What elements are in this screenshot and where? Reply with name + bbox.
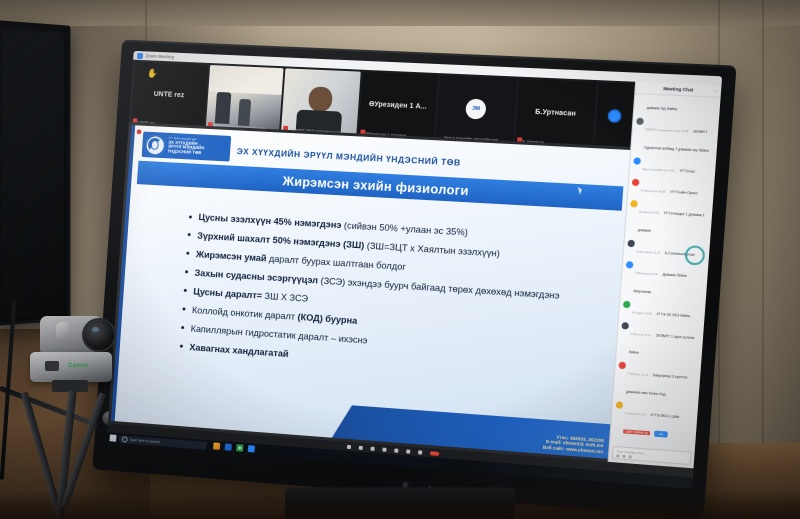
- chat-message-meta: Ж.Мөнхцэцэг 10:55: [641, 189, 666, 193]
- bullet-bold: Хавагнах хандлагатай: [189, 341, 289, 359]
- slide-org-header: ЭХ ХҮҮХДИЙН ЭРҮҮЛ МЭНДИЙН ҮНДЭСНИЙ ТӨВ: [237, 146, 462, 168]
- slide-title: Жирэмсэн эхийн физиологи: [282, 173, 469, 198]
- bullet-light: Коллойд онкотик даралт: [192, 304, 298, 322]
- mute-icon[interactable]: [347, 444, 351, 448]
- chat-input-tools[interactable]: [616, 454, 632, 458]
- chat-avatar: [618, 362, 626, 370]
- record-icon[interactable]: [406, 449, 410, 453]
- chat-message: ЭХЭМҮТ-д сургалтын хэсэг 10:48 ЭХЭМҮТ Су…: [634, 117, 716, 158]
- chat-avatar: [630, 200, 638, 208]
- wall-seam: [762, 0, 764, 519]
- participant-tile[interactable]: ЭМ Эхүүд мэндийн хөгжлийн төв: [436, 75, 517, 143]
- screen-share-area: ХҮҮ Эрүүл мэндийн яам ЭХ ХҮҮХДИЙН ЭРҮҮЛ …: [108, 122, 632, 462]
- chat-message-meta: М.Ундрах 11:09: [632, 311, 652, 315]
- chat-message: Н.Энхтуул 11:14 ЭХЭМҮТ 1 одоо хүлээж бай…: [619, 321, 700, 363]
- reactions-icon[interactable]: [418, 450, 422, 454]
- share-screen-icon[interactable]: [394, 448, 398, 452]
- chat-avatar: [627, 240, 635, 248]
- video-background: [208, 65, 284, 95]
- avatar: [607, 109, 621, 123]
- bullet-bold: Цусны эзэлхүүн 45% нэмэгдэнэ: [198, 211, 342, 230]
- bullet-bold: (КОД) буурна: [297, 311, 357, 326]
- slide-title-bar: Жирэмсэн эхийн физиологи: [137, 161, 624, 211]
- chat-message-text: УГТЭ-ээс: [679, 169, 695, 174]
- chat-message-text: ЭХЭМҮТ Сургалтын албанд 7 дэмжиж лүү бай…: [644, 129, 709, 152]
- chat-message-text: дэмжиж лүү байна: [647, 106, 678, 111]
- bullet-bold: Цусны даралт=: [193, 285, 262, 300]
- zoom-window-title: Zoom Meeting: [146, 53, 175, 59]
- leave-meeting-button[interactable]: [430, 451, 439, 456]
- chat-avatar: [632, 179, 640, 187]
- chat-message: М.Ундрах 11:09 УГТЭ-ЭЗ ЭБЭ байна: [622, 300, 702, 323]
- participant-name: Б.Уртнасан: [535, 108, 576, 117]
- chat-title: Meeting Chat: [663, 86, 693, 92]
- chat-message-meta: ЭХЭМҮТ-д сургалтын хэсэг 10:48: [645, 128, 688, 133]
- participants-icon[interactable]: [371, 446, 375, 450]
- chrome-icon[interactable]: [236, 444, 243, 451]
- foreground-shadow: [0, 489, 800, 519]
- chat-avatar: [616, 401, 624, 409]
- mail-icon[interactable]: [225, 443, 232, 450]
- logo-line-3: ҮНДЭСНИЙ ТӨВ: [168, 149, 205, 155]
- chat-message-text: Баярлалаа 3 хүртлээ дэмжинэ мөн болно би…: [626, 373, 688, 396]
- participant-tile[interactable]: [594, 82, 634, 149]
- chat-options-icon[interactable]: ⋯: [714, 88, 719, 93]
- bullet-bold: Жирэмсэн умай: [196, 248, 267, 263]
- zoom-icon[interactable]: [248, 445, 255, 452]
- chat-message-meta: Г.Ганцэцэг 11:20: [627, 372, 648, 376]
- taskbar-icons[interactable]: [213, 442, 255, 452]
- camera-knob: [56, 322, 69, 340]
- camera-sensor: [45, 361, 59, 371]
- raise-hand-icon: ✋: [147, 68, 158, 79]
- recording-dot-icon: [137, 129, 142, 134]
- chat-message-meta: Н.Энхтуул 11:14: [630, 333, 651, 337]
- chat-message: С.Ариунаа 11:24 УГТЭ-ЭБЭ 1 сайн сайн бай…: [614, 400, 695, 442]
- participant-tile[interactable]: Эрүүл мэндийн хөгжлийн төв: [205, 65, 283, 131]
- ptz-camera-rig: Canon: [18, 316, 130, 516]
- chat-message-text: Дэмжиж байна баярлалаа: [633, 272, 686, 294]
- photos-icon[interactable]: [213, 442, 220, 449]
- participant-tile[interactable]: ӨУрезиден 1 А... ӨУрезиден 1 Ариунаа: [358, 72, 438, 139]
- chat-message-meta: Б.Дэлгэрмаа 11:02: [636, 250, 660, 254]
- chat-avatar: [623, 301, 631, 309]
- chat-message-meta: Эрүүл мэндийн төв 10:52: [642, 168, 675, 173]
- bullet-light: даралт буурах шалтгаан болдог: [266, 253, 406, 272]
- chat-action-button[interactable]: OK: [654, 431, 667, 438]
- participant-tile[interactable]: ЭХЭМҮТ ЭБЭ сургалтын заал: [281, 68, 360, 135]
- bullet-light: (ЗШ=ЗЦТ х Хаялтын эзэлхүүн): [364, 240, 500, 259]
- screen-content: Zoom Meeting ✋ UNTE rez UNTE rez: [107, 51, 723, 489]
- chat-message-meta: Д.Сайхан 10:58: [639, 211, 659, 215]
- camera-body: Canon: [30, 352, 112, 382]
- participant-tile[interactable]: Б.Уртнасан Б.Уртнасан: [514, 79, 597, 147]
- slide-bullet-list: Цусны эзэлхүүн 45% нэмэгдэнэ (сийвэн 50%…: [140, 208, 610, 388]
- bullet-light: (сийвэн 50% +улаан эс 35%): [341, 219, 468, 237]
- bullet-bold: Зүрхний шахалт 50% нэмэгдэнэ (ЗШ): [197, 230, 365, 251]
- participant-tile[interactable]: ✋ UNTE rez UNTE rez: [131, 62, 208, 128]
- chat-avatar: [633, 157, 641, 164]
- presentation-slide: ХҮҮ Эрүүл мэндийн яам ЭХ ХҮҮХДИЙН ЭРҮҮЛ …: [111, 125, 632, 459]
- chat-avatar: [626, 261, 634, 269]
- chat-message-meta: Т.Баясгалан 11:06: [635, 272, 658, 276]
- zoom-main-area: ✋ UNTE rez UNTE rez Эрүүл мэндийн хөгжли…: [108, 60, 636, 462]
- chat-message: дэмжиж лүү байна: [637, 95, 717, 117]
- chat-icon[interactable]: [382, 447, 386, 451]
- ceiling-band: [0, 0, 800, 26]
- chat-message-text: УГТЭ-нэгдэл 1 дэмжиж 1 дэмжиж: [638, 211, 705, 233]
- video-person-shape: [238, 99, 252, 126]
- chat-avatar: [621, 322, 629, 330]
- secondary-monitor: [0, 20, 70, 326]
- center-emblem-icon: [145, 134, 166, 156]
- slide-logo: ХҮҮ Эрүүл мэндийн яам ЭХ ХҮҮХДИЙН ЭРҮҮЛ …: [142, 132, 232, 162]
- chat-message-text: ЭХЭМҮТ 1 одоо хүлээж байна: [629, 333, 695, 354]
- camera-head: [40, 316, 102, 356]
- wall-display: Zoom Meeting ✋ UNTE rez UNTE rez: [92, 40, 736, 519]
- chat-message: Д.Сайхан 10:58 УГТЭ-нэгдэл 1 дэмжиж 1 дэ…: [628, 199, 710, 240]
- participant-name: ӨУрезиден 1 А...: [369, 100, 427, 110]
- chat-avatar: [636, 118, 644, 125]
- chat-message-text: УГТЭ-ЭЗ ЭБЭ байна: [656, 312, 690, 318]
- chat-message: Эрүүл мэндийн төв 10:52 УГТЭ-ээс: [633, 156, 713, 178]
- zoom-app-icon: [137, 52, 143, 58]
- camera-lens: [84, 320, 114, 350]
- chat-message-text: УГТЭ-ЭБЭ 1 сайн: [650, 413, 679, 419]
- bullet-bold: Захын судасны эсэргүүцэл: [194, 267, 318, 286]
- room-photo-scene: Zoom Meeting ✋ UNTE rez UNTE rez: [0, 0, 800, 519]
- organization-logo-icon: ЭМ: [465, 99, 487, 120]
- video-icon[interactable]: [359, 445, 363, 449]
- chat-message-highlight: сайн байна уу: [623, 429, 650, 435]
- video-person-shape: [214, 92, 231, 124]
- bullet-light: Капиллярын гидростатик даралт – ихэснэ: [190, 323, 367, 346]
- chat-message: Т.Баясгалан 11:06 Дэмжиж байна баярлалаа: [624, 260, 706, 302]
- chat-message: Ж.Мөнхцэцэг 10:55 УГТЭ-ийн Орхон: [631, 178, 711, 201]
- search-placeholder: Type here to search: [129, 437, 159, 443]
- display-bezel: Zoom Meeting ✋ UNTE rez UNTE rez: [107, 51, 723, 489]
- participant-name: UNTE rez: [154, 90, 185, 98]
- chat-message: Г.Ганцэцэг 11:20 Баярлалаа 3 хүртлээ дэм…: [616, 361, 697, 403]
- chat-message-meta: С.Ариунаа 11:24: [624, 412, 645, 417]
- camera-brand-label: Canon: [68, 363, 88, 369]
- secondary-monitor-screen: [2, 29, 64, 318]
- bullet-light: ЗШ Х ЗСЭ: [262, 290, 309, 304]
- chat-message-text: УГТЭ-ийн Орхон: [670, 190, 698, 196]
